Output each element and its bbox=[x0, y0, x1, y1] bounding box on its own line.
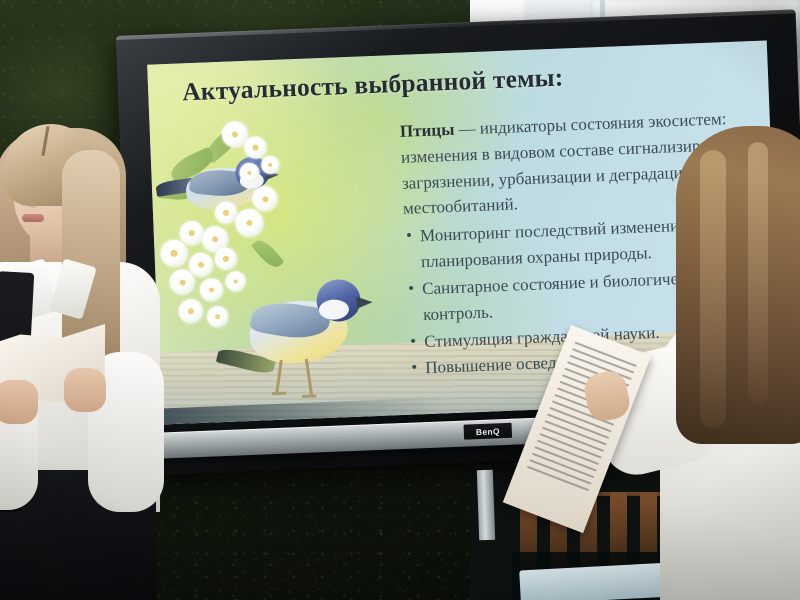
hair-long-back bbox=[676, 126, 800, 444]
presentation-scene: Актуальность выбранной темы: Птицы — инд… bbox=[0, 0, 800, 600]
lips bbox=[22, 214, 44, 222]
hand-left bbox=[0, 380, 38, 424]
hand-right bbox=[64, 368, 106, 412]
slide-title: Актуальность выбранной темы: bbox=[182, 55, 743, 107]
benq-logo: BenQ bbox=[464, 423, 513, 440]
benq-logo-text: BenQ bbox=[476, 426, 500, 437]
hair-highlight-2 bbox=[748, 142, 768, 404]
bird-illustration-lower bbox=[228, 270, 393, 406]
leaf-shape bbox=[251, 236, 284, 272]
slide-lead-bold: Птицы bbox=[400, 120, 455, 141]
hair-highlight bbox=[700, 150, 726, 428]
display-stand-post bbox=[477, 470, 495, 541]
